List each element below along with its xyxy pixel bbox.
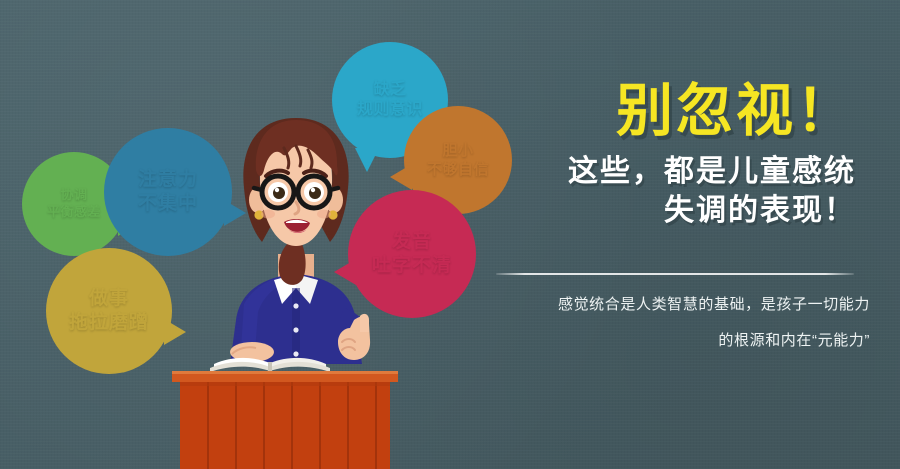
body-text-line-1: 感觉统合是人类智慧的基础，是孩子一切能力 — [470, 294, 870, 317]
bubble-line-1: 注意力 — [138, 168, 198, 192]
bubble-line-1: 做事 — [89, 287, 129, 311]
bubble-line-1: 发音 — [392, 230, 432, 254]
podium-desk — [170, 338, 400, 469]
open-book — [210, 358, 330, 372]
bubble-line-1: 缺乏 — [373, 80, 406, 100]
subtitle-line-1: 这些，都是儿童感统 — [470, 152, 856, 191]
bubble-line-2: 不集中 — [138, 192, 198, 216]
page-title: 别忽视！ — [470, 82, 856, 142]
teacher-illustration — [196, 104, 396, 364]
subtitle-line-2: 失调的表现！ — [470, 191, 856, 230]
divider — [496, 273, 854, 275]
bubble-line-2: 平衡感差 — [47, 204, 101, 221]
bubble-line-1: 胆小 — [442, 141, 473, 160]
headline-block: 别忽视！ 这些，都是儿童感统 失调的表现！ — [470, 82, 870, 230]
promo-banner: 协调 平衡感差 注意力 不集中 做事 拖拉磨蹭 缺乏 规则意识 胆小 不够自信 … — [0, 0, 900, 469]
body-text-line-2: 的根源和内在“元能力” — [470, 330, 870, 353]
bubble-line-2: 拖拉磨蹭 — [69, 311, 149, 335]
bubble-line-1: 协调 — [60, 187, 87, 204]
bubble-procrastination[interactable]: 做事 拖拉磨蹭 — [46, 248, 172, 374]
